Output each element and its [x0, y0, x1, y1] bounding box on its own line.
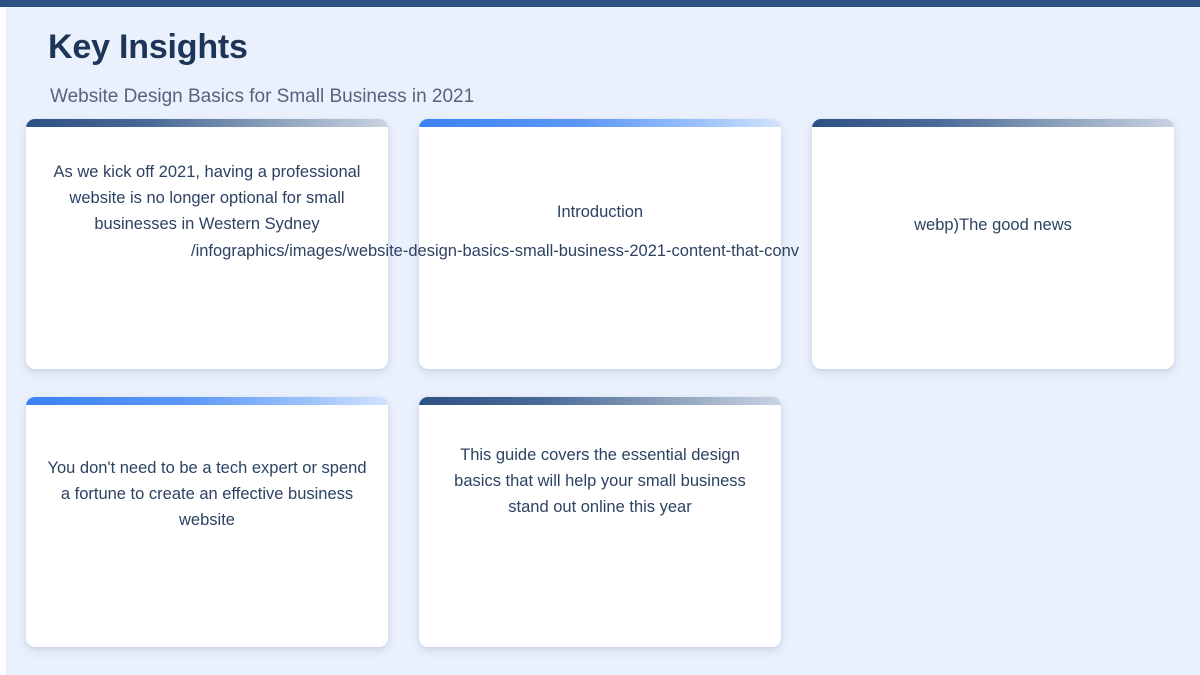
card-text: As we kick off 2021, having a profession… — [26, 159, 388, 237]
insight-board: Key Insights Website Design Basics for S… — [0, 0, 1200, 675]
insight-card-1[interactable]: As we kick off 2021, having a profession… — [26, 119, 388, 369]
insight-card-5[interactable]: This guide covers the essential design b… — [419, 397, 781, 647]
card-accent-bar — [26, 119, 388, 127]
content-stage: Key Insights Website Design Basics for S… — [6, 7, 1200, 675]
card-grid: As we kick off 2021, having a profession… — [6, 7, 1200, 675]
card-text: This guide covers the essential design b… — [419, 442, 781, 520]
insight-card-2[interactable]: Introduction — [419, 119, 781, 369]
top-accent-strip — [0, 0, 1200, 7]
insight-card-4[interactable]: You don't need to be a tech expert or sp… — [26, 397, 388, 647]
card-accent-bar — [812, 119, 1174, 127]
card-text: You don't need to be a tech expert or sp… — [26, 455, 388, 533]
card-accent-bar — [419, 397, 781, 405]
card-accent-bar — [419, 119, 781, 127]
card-text: Introduction — [419, 199, 781, 225]
insight-card-3[interactable]: webp)The good news — [812, 119, 1174, 369]
card-text: webp)The good news — [812, 212, 1174, 238]
card-accent-bar — [26, 397, 388, 405]
